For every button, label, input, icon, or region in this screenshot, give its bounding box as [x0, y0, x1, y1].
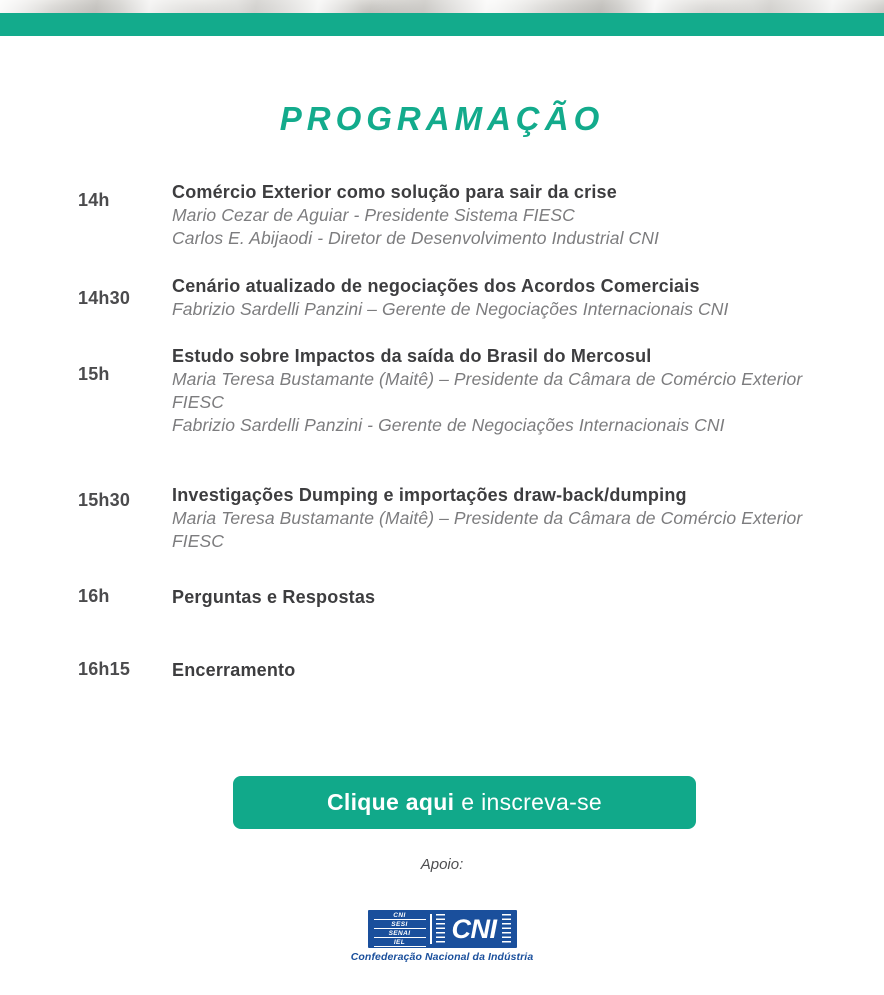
- schedule-time: 15h30: [78, 490, 172, 511]
- schedule-list: 14h Comércio Exterior como solução para …: [0, 180, 884, 682]
- schedule-body: Comércio Exterior como solução para sair…: [172, 180, 884, 250]
- schedule-speaker: Maria Teresa Bustamante (Maitê) – Presid…: [172, 507, 824, 553]
- logo-stripes-left-icon: [436, 914, 445, 944]
- cta-strong-label: Clique aqui: [327, 789, 454, 816]
- cta-container: Clique aqui e inscreva-se: [233, 776, 696, 829]
- schedule-row: 14h Comércio Exterior como solução para …: [0, 180, 884, 250]
- schedule-time: 14h30: [78, 288, 172, 309]
- schedule-body: Perguntas e Respostas: [172, 585, 884, 609]
- brand-label-senai: SENAI: [374, 930, 426, 938]
- cni-wordmark: CNI: [445, 914, 502, 944]
- schedule-time: 14h: [78, 190, 172, 211]
- schedule-session-title: Investigações Dumping e importações draw…: [172, 483, 824, 507]
- schedule-body: Estudo sobre Impactos da saída do Brasil…: [172, 344, 884, 437]
- header-accent-bar: [0, 13, 884, 36]
- logo-stripes-right-icon: [502, 914, 511, 944]
- brand-label-sesi: SESI: [374, 921, 426, 929]
- schedule-time: 16h15: [78, 659, 172, 680]
- schedule-row: 16h15 Encerramento: [0, 658, 884, 682]
- cni-logo-mark: CNI SESI SENAI IEL CNI: [368, 910, 517, 948]
- schedule-row: 15h30 Investigações Dumping e importaçõe…: [0, 483, 884, 553]
- schedule-body: Cenário atualizado de negociações dos Ac…: [172, 274, 884, 321]
- schedule-session-title: Comércio Exterior como solução para sair…: [172, 180, 824, 204]
- cta-rest-label: e inscreva-se: [454, 789, 602, 816]
- schedule-speaker: Maria Teresa Bustamante (Maitê) – Presid…: [172, 368, 824, 414]
- register-button[interactable]: Clique aqui e inscreva-se: [233, 776, 696, 829]
- page-title: PROGRAMAÇÃO: [0, 100, 884, 138]
- schedule-session-title: Cenário atualizado de negociações dos Ac…: [172, 274, 824, 298]
- schedule-row: 14h30 Cenário atualizado de negociações …: [0, 274, 884, 321]
- schedule-speaker: Fabrizio Sardelli Panzini - Gerente de N…: [172, 414, 824, 437]
- schedule-session-title: Encerramento: [172, 658, 824, 682]
- brand-label-cni: CNI: [374, 912, 426, 920]
- schedule-speaker: Fabrizio Sardelli Panzini – Gerente de N…: [172, 298, 824, 321]
- cni-brand-stack: CNI SESI SENAI IEL: [374, 914, 432, 944]
- brand-label-iel: IEL: [374, 939, 426, 947]
- schedule-session-title: Perguntas e Respostas: [172, 585, 824, 609]
- schedule-body: Encerramento: [172, 658, 884, 682]
- schedule-row: 16h Perguntas e Respostas: [0, 585, 884, 609]
- schedule-body: Investigações Dumping e importações draw…: [172, 483, 884, 553]
- schedule-session-title: Estudo sobre Impactos da saída do Brasil…: [172, 344, 824, 368]
- support-label: Apoio:: [0, 856, 884, 873]
- cni-logo: CNI SESI SENAI IEL CNI Confederação Naci…: [0, 910, 884, 963]
- cni-tagline: Confederação Nacional da Indústria: [351, 951, 534, 963]
- header-marble-texture: [0, 0, 884, 13]
- schedule-time: 15h: [78, 364, 172, 385]
- schedule-speaker: Carlos E. Abijaodi - Diretor de Desenvol…: [172, 227, 824, 250]
- schedule-time: 16h: [78, 586, 172, 607]
- schedule-row: 15h Estudo sobre Impactos da saída do Br…: [0, 344, 884, 437]
- schedule-speaker: Mario Cezar de Aguiar - Presidente Siste…: [172, 204, 824, 227]
